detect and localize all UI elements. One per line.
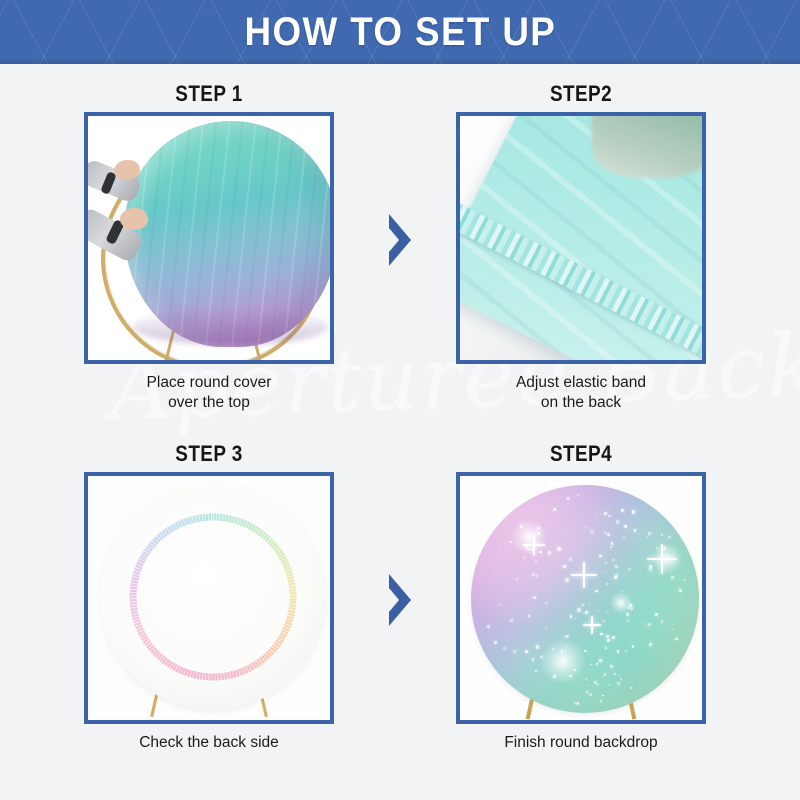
photo4-star-dot [588,685,589,686]
step-card-4: STEP4 Finish round backdrop [411,440,751,753]
photo4-sparkle-icon [583,562,585,588]
photo4-star-dot [600,700,602,702]
photo4-star-dot [583,613,585,615]
photo4-star-dot [536,645,540,649]
step-card-3: STEP 3 Check the back side [39,440,379,753]
photo4-star-dot [608,515,611,518]
photo4-star-dot [596,663,598,665]
photo4-star-dot [570,615,572,617]
photo4-star-dot [616,520,619,523]
step-caption-2-line1: Adjust elastic band [411,373,751,393]
photo4-star-dot [627,620,630,623]
photo4-star-dot [624,525,627,528]
photo4-star-dot [607,611,609,613]
chevron-right-icon-1 [383,212,417,268]
photo4-star-dot [656,541,657,542]
photo4-star-dot [540,611,541,612]
photo4-star-dot [609,684,611,686]
photo4-star-dot [645,625,647,627]
step-caption-2-line2: on the back [411,393,751,413]
photo4-star-dot [563,532,564,533]
photo4-star-dot [606,635,609,638]
photo4-star-dot [610,546,613,549]
photo4-star-dot [647,536,649,538]
photo4-star-dot [604,512,607,515]
photo4-star-dot [675,638,677,640]
photo4-star-dot [605,572,606,573]
photo4-star-dot [536,575,539,578]
photo4-star-dot [584,650,586,652]
step-caption-1-line2: over the top [39,393,379,413]
step-card-1: STEP 1 Place round cov [39,80,379,413]
photo4-star-dot [577,608,580,611]
photo4-star-dot [632,510,635,513]
photo4-star-dot [597,684,599,686]
photo4-star-dot [563,565,566,568]
step-caption-4-line1: Finish round backdrop [411,733,751,753]
photo4-star-dot [628,568,631,571]
photo4-star-dot [671,576,674,579]
photo4-star-dot [500,604,502,606]
step-card-2: STEP2 Adjust elastic band on the back [411,80,751,413]
photo4-star-dot [614,673,616,675]
photo4-star-dot [607,533,610,536]
photo4-star-dot [590,664,592,666]
photo4-star-dot [669,617,670,618]
photo4-star-dot [617,682,620,685]
photo4-star-dot [565,578,568,581]
photo4-sparkle-icon [661,544,663,574]
photo4-star-dot [582,604,584,606]
step-caption-3: Check the back side [39,733,379,753]
photo4-star-dot [672,629,673,630]
step-caption-3-line1: Check the back side [39,733,379,753]
photo4-star-dot [615,565,618,568]
photo4-star-dot [602,695,603,696]
photo4-star-dot [649,643,652,646]
photo4-star-dot [548,551,551,554]
photo4-sparkle-icon [591,616,593,634]
photo4-star-dot [599,555,602,558]
photo4-star-dot [577,494,579,496]
photo4-star-dot [600,633,602,635]
photo4-star-dot [596,513,598,515]
photo4-light-bloom [610,592,632,614]
photo4-star-dot [494,641,497,644]
photo4-star-dot [545,603,546,604]
photo4-star-dot [569,558,572,561]
photo4-star-dot [621,509,624,512]
photo4-star-dot [614,576,617,579]
photo4-star-dot [626,613,629,616]
step-caption-2: Adjust elastic band on the back [411,373,751,413]
photo4-star-dot [623,536,625,538]
photo4-star-dot [585,611,588,614]
photo4-star-dot [649,568,652,571]
step-photo-4-content [460,476,702,720]
photo4-star-dot [526,513,527,514]
photo4-star-dot [553,508,556,511]
photo4-star-dot [634,529,636,531]
photo4-star-dot [655,613,658,616]
step-label-1: STEP 1 [63,80,355,108]
step-photo-2-content [460,116,702,360]
photo4-star-dot [611,542,614,545]
photo4-light-bloom [540,638,586,684]
photo4-star-field [471,485,699,713]
photo4-star-dot [545,627,547,629]
photo4-star-dot [585,527,586,528]
steps-grid: STEP 1 Place round cov [0,64,800,800]
photo4-star-dot [535,561,537,563]
photo4-star-dot [535,670,537,672]
photo4-star-dot [487,625,490,628]
photo4-star-dot [648,623,651,626]
photo4-star-dot [607,639,610,642]
photo2-background-blur [592,116,702,178]
photo4-star-dot [589,603,591,605]
photo4-star-dot [510,619,513,622]
photo4-star-dot [590,530,593,533]
photo4-star-dot [661,534,663,536]
photo4-finished-backdrop [471,485,699,713]
photo4-star-dot [603,620,605,622]
photo4-star-dot [484,594,485,595]
photo4-star-dot [641,622,642,623]
step-caption-4: Finish round backdrop [411,733,751,753]
step-image-4 [456,472,706,724]
step-image-3 [84,472,334,724]
photo4-star-dot [513,650,516,653]
photo4-star-dot [684,579,685,580]
photo4-star-dot [605,562,607,564]
photo4-star-dot [539,551,541,553]
photo3-backdrop-back [100,484,326,710]
step-label-4: STEP4 [435,440,727,468]
photo4-star-dot [557,547,561,551]
photo4-star-dot [668,536,671,539]
photo4-star-dot [633,583,634,584]
photo4-star-dot [575,618,576,619]
photo4-star-dot [589,693,592,696]
photo4-star-dot [525,650,527,652]
photo4-star-dot [648,532,651,535]
photo4-star-dot [612,636,615,639]
photo4-star-dot [528,615,530,617]
photo4-star-dot [620,678,623,681]
photo4-star-dot [604,532,607,535]
photo4-star-dot [533,596,536,599]
photo4-star-dot [586,691,588,693]
photo4-star-dot [625,650,627,652]
step-image-1 [84,112,334,364]
photo4-star-dot [503,647,506,650]
photo4-star-dot [532,573,535,576]
photo4-star-dot [577,702,579,704]
photo4-star-dot [661,620,664,623]
step-label-2: STEP2 [435,80,727,108]
photo3-rim-texture [95,479,330,715]
step-caption-1: Place round cover over the top [39,373,379,413]
photo4-star-dot [598,610,599,611]
photo4-star-dot [604,673,607,676]
photo4-star-dot [679,589,682,592]
photo4-star-dot [612,559,615,562]
photo1-gradient-cover [124,121,330,347]
photo4-star-dot [524,557,525,558]
photo4-star-dot [630,687,632,689]
photo4-star-dot [495,573,496,574]
step-photo-1-content [88,116,330,360]
photo4-star-dot [585,678,587,680]
photo4-star-dot [606,583,609,586]
step-label-3: STEP 3 [63,440,355,468]
photo4-star-dot [619,675,620,676]
chevron-right-icon-2 [383,572,417,628]
photo4-sparkle-icon [533,534,535,556]
photo4-star-dot [566,614,568,616]
step-caption-1-line1: Place round cover [39,373,379,393]
step-photo-3-content [88,476,330,720]
photo4-star-dot [567,497,570,500]
photo4-star-dot [532,658,535,661]
photo4-star-dot [599,659,602,662]
photo4-star-dot [632,645,635,648]
photo4-star-dot [516,578,518,580]
header-banner: HOW TO SET UP [0,0,800,64]
page-title: HOW TO SET UP [244,10,556,55]
photo4-star-dot [610,665,613,668]
photo4-star-dot [595,590,597,592]
photo4-star-dot [617,650,619,652]
photo1-cover-hem [133,309,330,345]
photo4-star-dot [605,647,607,649]
step-image-2 [456,112,706,364]
photo4-light-bloom [511,519,547,555]
